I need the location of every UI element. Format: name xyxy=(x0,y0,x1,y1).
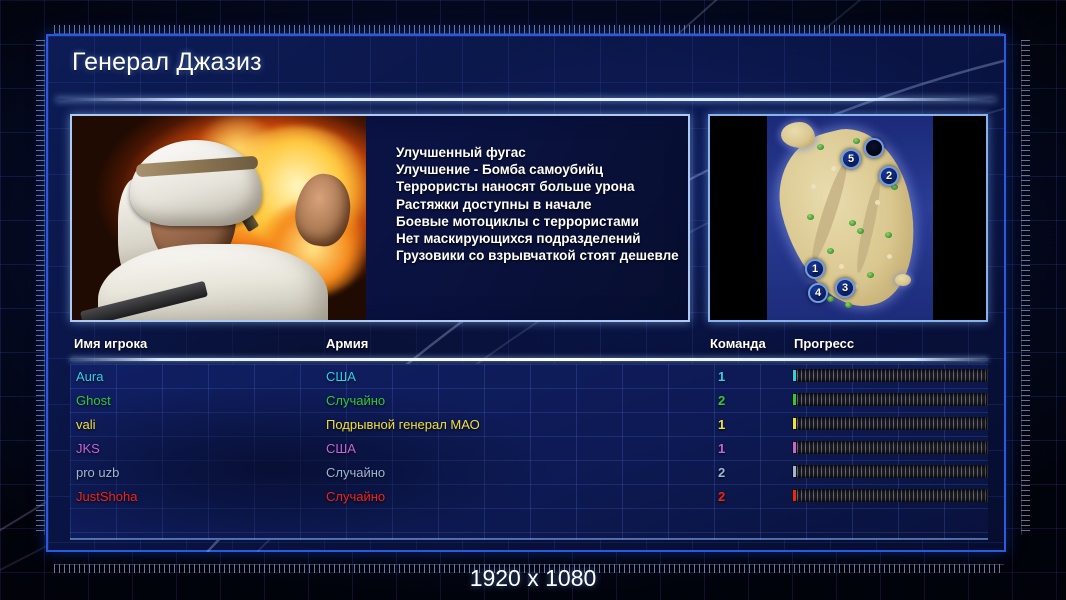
bonus-line: Растяжки доступны в начале xyxy=(396,196,688,213)
player-name: JKS xyxy=(76,441,100,456)
player-army: Случайно xyxy=(326,465,385,480)
player-name: pro uzb xyxy=(76,465,119,480)
player-list: AuraСША1GhostСлучайно2valiПодрывной гене… xyxy=(70,364,988,540)
resolution-label: 1920 x 1080 xyxy=(0,565,1066,592)
title-bar: Генерал Джазиз xyxy=(48,36,1004,100)
map-spawn-point[interactable] xyxy=(864,138,884,158)
player-row[interactable]: pro uzbСлучайно2 xyxy=(70,460,988,484)
player-progress-bar xyxy=(792,417,988,430)
player-name: vali xyxy=(76,417,96,432)
player-army: Случайно xyxy=(326,393,385,408)
player-army: Подрывной генерал МАО xyxy=(326,417,480,432)
player-row[interactable]: AuraСША1 xyxy=(70,364,988,388)
column-header-team: Команда xyxy=(710,336,766,351)
screen-root: Генерал Джазиз xyxy=(0,0,1066,600)
map-image: 5 2 1 4 3 xyxy=(767,116,933,320)
player-progress-bar xyxy=(792,465,988,478)
map-preview-panel[interactable]: 5 2 1 4 3 xyxy=(708,114,988,322)
column-header-progress: Прогресс xyxy=(794,336,854,351)
player-progress-fill xyxy=(793,466,796,477)
player-row[interactable]: valiПодрывной генерал МАО1 xyxy=(70,412,988,436)
general-info-window: Генерал Джазиз xyxy=(46,34,1006,552)
player-team: 2 xyxy=(718,489,725,504)
map-spawn-point[interactable]: 2 xyxy=(879,166,899,186)
map-spawn-point[interactable]: 4 xyxy=(808,283,828,303)
frame-ruler-left xyxy=(36,40,45,535)
player-row[interactable]: JustShohaСлучайно2 xyxy=(70,484,988,508)
player-progress-bar xyxy=(792,489,988,502)
general-portrait xyxy=(72,116,366,320)
player-team: 1 xyxy=(718,441,725,456)
player-progress-fill xyxy=(793,370,796,381)
player-army: Случайно xyxy=(326,489,385,504)
bonus-line: Улучшение - Бомба самоубийц xyxy=(396,161,688,178)
window-content: Улучшенный фугас Улучшение - Бомба самоу… xyxy=(48,100,1004,550)
player-name: Ghost xyxy=(76,393,111,408)
player-team: 2 xyxy=(718,393,725,408)
player-progress-fill xyxy=(793,490,796,501)
header-divider xyxy=(70,358,988,361)
map-spawn-point[interactable]: 1 xyxy=(805,259,825,279)
page-title: Генерал Джазиз xyxy=(72,48,262,77)
player-progress-fill xyxy=(793,394,796,405)
player-progress-fill xyxy=(793,418,796,429)
player-team: 1 xyxy=(718,417,725,432)
island-small xyxy=(781,122,815,148)
player-table-header: Имя игрока Армия Команда Прогресс xyxy=(70,336,988,358)
player-name: Aura xyxy=(76,369,103,384)
player-army: США xyxy=(326,441,356,456)
general-info-panel: Улучшенный фугас Улучшение - Бомба самоу… xyxy=(70,114,690,322)
bonus-line: Грузовики со взрывчаткой стоят дешевле xyxy=(396,247,688,264)
frame-ruler-right xyxy=(1021,40,1030,535)
bonus-line: Улучшенный фугас xyxy=(396,144,688,161)
island-islet xyxy=(895,274,911,286)
bonus-line: Террористы наносят больше урона xyxy=(396,178,688,195)
player-progress-bar xyxy=(792,369,988,382)
player-progress-bar xyxy=(792,393,988,406)
player-row[interactable]: GhostСлучайно2 xyxy=(70,388,988,412)
map-spawn-point[interactable]: 5 xyxy=(841,149,861,169)
bonus-line: Нет маскирующихся подразделений xyxy=(396,230,688,247)
general-bonus-list: Улучшенный фугас Улучшение - Бомба самоу… xyxy=(366,116,688,320)
player-name: JustShoha xyxy=(76,489,137,504)
player-team: 2 xyxy=(718,465,725,480)
player-progress-bar xyxy=(792,441,988,454)
bonus-line: Боевые мотоциклы с террористами xyxy=(396,213,688,230)
player-team: 1 xyxy=(718,369,725,384)
column-header-name: Имя игрока xyxy=(74,336,147,351)
map-spawn-point[interactable]: 3 xyxy=(835,278,855,298)
player-row[interactable]: JKSСША1 xyxy=(70,436,988,460)
column-header-army: Армия xyxy=(326,336,368,351)
player-army: США xyxy=(326,369,356,384)
player-progress-fill xyxy=(793,442,796,453)
frame-ruler-top xyxy=(54,25,1004,34)
